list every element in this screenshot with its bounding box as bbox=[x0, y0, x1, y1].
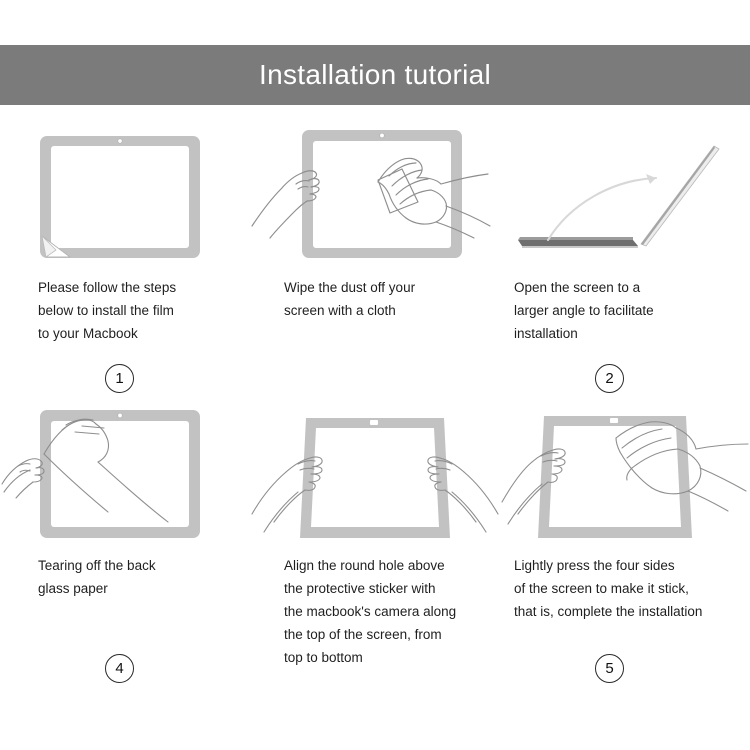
page-title: Installation tutorial bbox=[259, 61, 491, 89]
screen-with-peeling-film-corner-illustration bbox=[0, 118, 250, 268]
step-card-3: Open the screen to a larger angle to fac… bbox=[500, 118, 750, 396]
steps-grid: Please follow the steps below to install… bbox=[0, 118, 750, 686]
step-card-4: Tearing off the back glass paper 4 bbox=[0, 396, 250, 686]
hands-tearing-back-paper-illustration bbox=[0, 396, 250, 546]
step-card-2: Wipe the dust off your screen with a clo… bbox=[250, 118, 500, 396]
laptop-side-profile-opening-angle-illustration bbox=[500, 118, 750, 268]
step-caption-5: Align the round hole above the protectiv… bbox=[284, 554, 490, 669]
step-caption-2: Wipe the dust off your screen with a clo… bbox=[284, 276, 490, 322]
two-hands-aligning-film-on-screen-illustration bbox=[250, 396, 500, 546]
step-card-1: Please follow the steps below to install… bbox=[0, 118, 250, 396]
step-caption-6: Lightly press the four sides of the scre… bbox=[514, 554, 740, 623]
step-caption-4: Tearing off the back glass paper bbox=[38, 554, 234, 600]
step-number-badge-1: 1 bbox=[105, 364, 134, 393]
hands-wiping-screen-with-cloth-illustration bbox=[250, 118, 500, 268]
step-card-6: Lightly press the four sides of the scre… bbox=[500, 396, 750, 686]
header-banner: Installation tutorial bbox=[0, 45, 750, 105]
hand-pressing-screen-flat-illustration bbox=[500, 396, 750, 546]
step-number-badge-4: 4 bbox=[105, 654, 134, 683]
step-caption-3: Open the screen to a larger angle to fac… bbox=[514, 276, 740, 345]
step-caption-1: Please follow the steps below to install… bbox=[38, 276, 234, 345]
step-card-5: Align the round hole above the protectiv… bbox=[250, 396, 500, 686]
